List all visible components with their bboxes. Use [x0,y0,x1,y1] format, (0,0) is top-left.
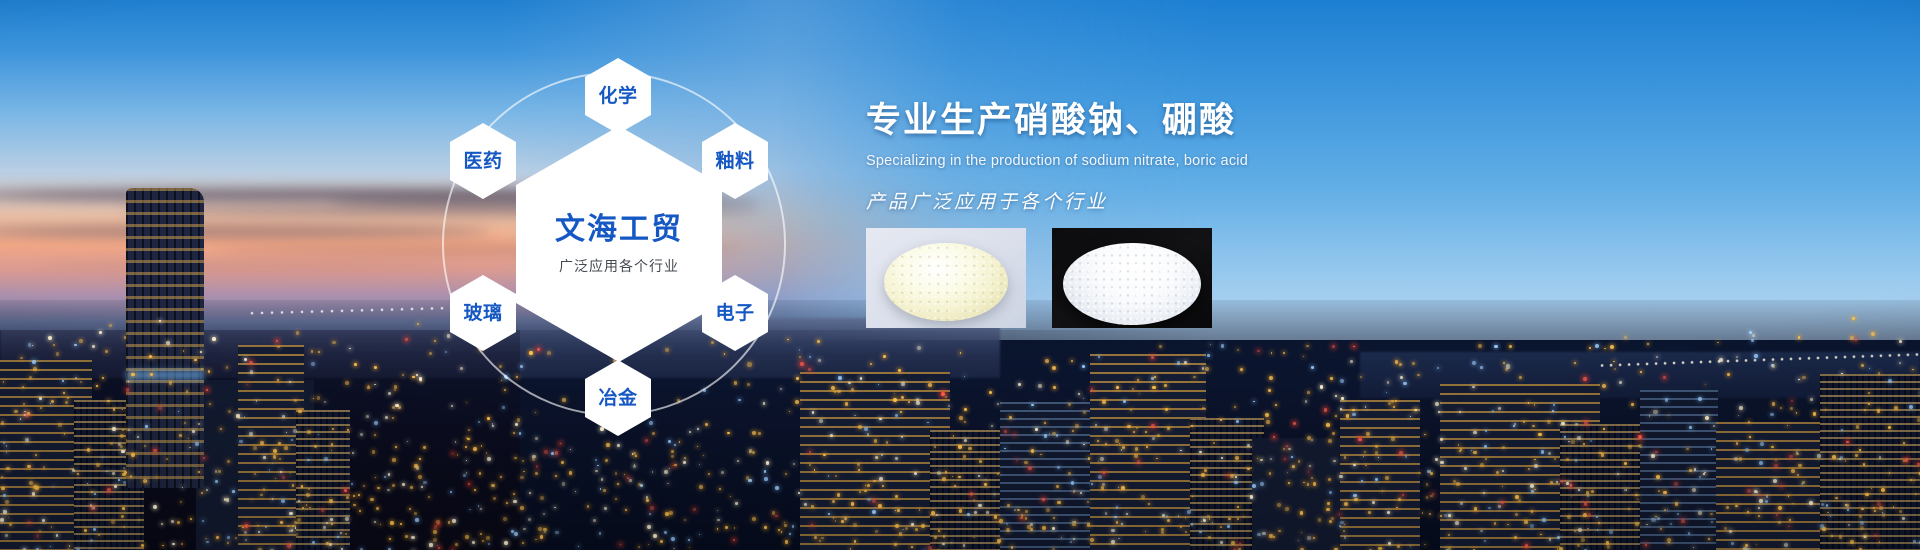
company-name: 文海工贸 [555,213,683,246]
product-photo-strip [866,228,1212,328]
powder-pile [1063,243,1201,325]
hex-label-pharmaceutical: 医药 [463,152,502,171]
banner-copy: 专业生产硝酸钠、硼酸 Specializing in the productio… [866,100,1486,214]
promo-banner: 化学 釉料 电子 冶金 玻璃 医药 文海工贸 广泛应用各个行业 专业生产硝酸钠、… [0,0,1920,550]
tagline: 产品广泛应用于各个行业 [866,187,1486,214]
company-subtitle: 广泛应用各个行业 [559,256,679,276]
headline: 专业生产硝酸钠、硼酸 [866,100,1486,142]
powder-pile [884,243,1008,321]
headline-english: Specializing in the production of sodium… [866,153,1486,169]
hex-label-glass: 玻璃 [463,304,502,323]
product-photo-boric-acid[interactable] [1052,228,1212,328]
hex-label-glaze: 釉料 [715,152,754,171]
industry-hex-diagram: 化学 釉料 电子 冶金 玻璃 医药 文海工贸 广泛应用各个行业 [430,30,810,480]
hex-label-chemical: 化学 [598,87,637,106]
hex-label-electronics: 电子 [715,304,754,323]
product-photo-sodium-nitrate[interactable] [866,228,1026,328]
hex-label-metallurgy: 冶金 [598,389,637,408]
